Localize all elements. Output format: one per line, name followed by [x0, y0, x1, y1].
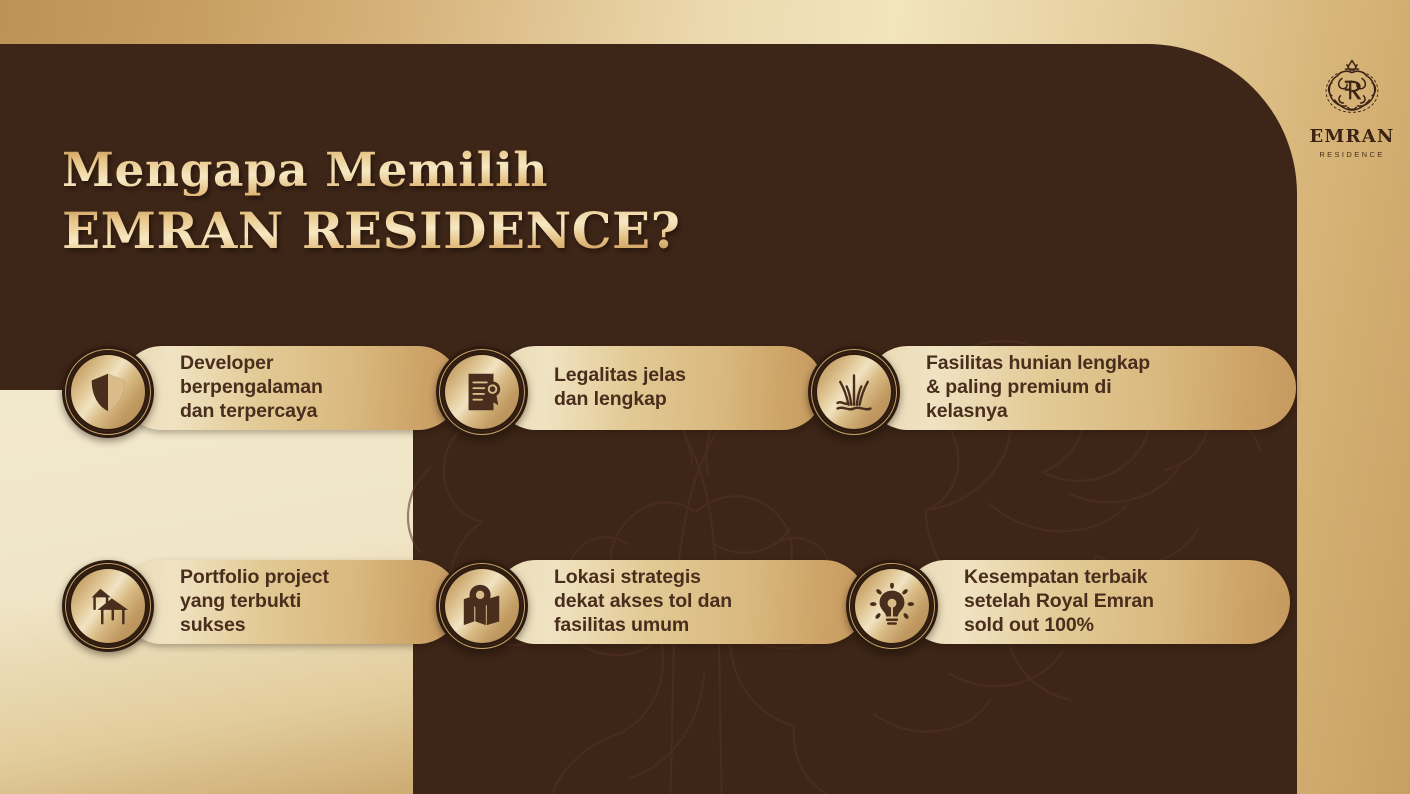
ornamental-vine-pattern: [370, 244, 1290, 794]
feature-text: Lokasi strategis dekat akses tol dan fas…: [494, 566, 758, 637]
feature-badge: [62, 560, 154, 652]
feature-badge: [62, 346, 154, 438]
title-line-1: Mengapa Memilih: [62, 146, 680, 196]
brand-name: EMRAN: [1306, 128, 1398, 146]
houses-icon: [85, 583, 131, 629]
feature-pill: Legalitas jelas dan lengkap: [494, 346, 824, 430]
feature-pill: Portfolio project yang terbukti sukses: [120, 560, 460, 644]
feature-text: Fasilitas hunian lengkap & paling premiu…: [866, 352, 1176, 423]
feature-badge: [846, 560, 938, 652]
feature-badge: [436, 560, 528, 652]
feature-pill: Kesempatan terbaik setelah Royal Emran s…: [904, 560, 1290, 644]
emran-crest-icon: [1316, 54, 1388, 126]
feature-text: Portfolio project yang terbukti sukses: [120, 566, 355, 637]
slide-background: Mengapa Memilih EMRAN RESIDENCE?: [0, 0, 1410, 794]
feature-card[interactable]: Developer berpengalaman dan terpercaya: [62, 346, 154, 438]
feature-card[interactable]: Portfolio project yang terbukti sukses: [62, 560, 154, 652]
map-pin-icon: [459, 583, 505, 629]
feature-pill: Fasilitas hunian lengkap & paling premiu…: [866, 346, 1296, 430]
feature-badge: [808, 346, 900, 438]
page-title: Mengapa Memilih EMRAN RESIDENCE?: [62, 146, 680, 257]
feature-text: Kesempatan terbaik setelah Royal Emran s…: [904, 566, 1180, 637]
feature-pill: Lokasi strategis dekat akses tol dan fas…: [494, 560, 866, 644]
lightbulb-icon: [869, 583, 915, 629]
feature-card[interactable]: Fasilitas hunian lengkap & paling premiu…: [808, 346, 900, 438]
feature-card[interactable]: Legalitas jelas dan lengkap: [436, 346, 528, 438]
feature-card[interactable]: Kesempatan terbaik setelah Royal Emran s…: [846, 560, 938, 652]
brand-logo: EMRAN RESIDENCE: [1306, 54, 1398, 159]
feature-card[interactable]: Lokasi strategis dekat akses tol dan fas…: [436, 560, 528, 652]
feature-text: Developer berpengalaman dan terpercaya: [120, 352, 349, 423]
feature-pill: Developer berpengalaman dan terpercaya: [120, 346, 460, 430]
reeds-water-icon: [832, 370, 876, 414]
shield-icon: [85, 369, 131, 415]
certificate-icon: [459, 369, 505, 415]
feature-badge: [436, 346, 528, 438]
brand-subtitle: RESIDENCE: [1306, 150, 1398, 159]
title-line-2: EMRAN RESIDENCE?: [62, 204, 680, 257]
